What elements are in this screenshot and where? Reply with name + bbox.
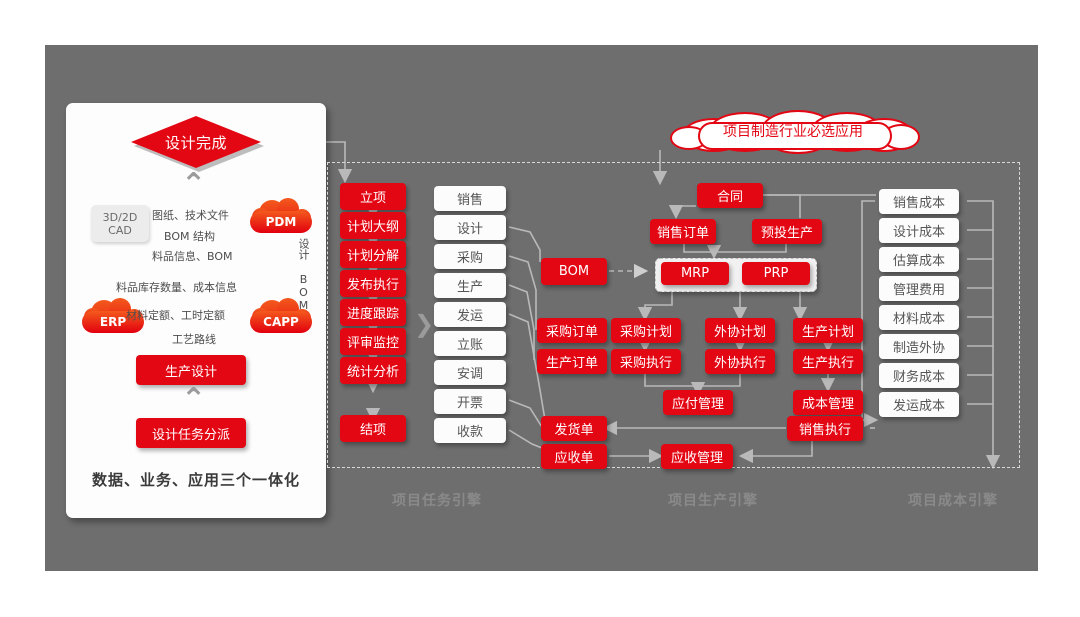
- production-plan-box[interactable]: 生产计划: [793, 318, 863, 343]
- chevron-up-icon-task: ⌃: [181, 385, 206, 415]
- task-step-lixiang[interactable]: 立项: [340, 183, 406, 210]
- label-design-bom: 设计 BOM: [297, 238, 309, 312]
- cad-box: 3D/2D CAD: [91, 205, 149, 242]
- design-task-assign-button[interactable]: 设计任务分派: [136, 418, 246, 448]
- task-step-jihuadagang[interactable]: 计划大纲: [340, 212, 406, 239]
- sales-exec-box[interactable]: 销售执行: [787, 416, 863, 441]
- task-step-jihuafenjie[interactable]: 计划分解: [340, 241, 406, 268]
- pdm-cloud: PDM: [250, 198, 312, 238]
- erp-cloud-label: ERP: [82, 311, 144, 333]
- engine-label-task: 项目任务引擎: [392, 490, 482, 510]
- label-material-info-bom: 料品信息、BOM: [152, 248, 233, 264]
- cad-line-1: 3D/2D: [103, 211, 138, 224]
- callout-text: 项目制造行业必选应用: [668, 110, 918, 152]
- bom-box[interactable]: BOM: [541, 258, 607, 285]
- task-step-jindugenzong[interactable]: 进度跟踪: [340, 299, 406, 326]
- task-step-jiexiang[interactable]: 结项: [340, 415, 406, 442]
- production-design-button[interactable]: 生产设计: [136, 355, 246, 385]
- task-lane-sheji[interactable]: 设计: [434, 215, 506, 240]
- task-step-fabuzhixing[interactable]: 发布执行: [340, 270, 406, 297]
- chevron-up-icon-design: ⌃: [181, 170, 206, 200]
- panel-caption: 数据、业务、应用三个一体化: [66, 469, 326, 490]
- purchase-exec-box[interactable]: 采购执行: [611, 349, 681, 374]
- payable-mgmt-box[interactable]: 应付管理: [663, 390, 733, 415]
- cost-item-guanli[interactable]: 管理费用: [879, 276, 959, 301]
- task-lane-xiaoshou[interactable]: 销售: [434, 186, 506, 211]
- task-lane-fayun[interactable]: 发运: [434, 302, 506, 327]
- callout-cloud: 项目制造行业必选应用: [668, 110, 918, 152]
- task-step-tongjifenxi[interactable]: 统计分析: [340, 357, 406, 384]
- pdm-cloud-label: PDM: [250, 211, 312, 233]
- outsource-plan-box[interactable]: 外协计划: [705, 318, 775, 343]
- label-drawings-tech-docs: 图纸、技术文件: [152, 207, 229, 223]
- cost-item-sheji[interactable]: 设计成本: [879, 218, 959, 243]
- capp-cloud-label: CAPP: [250, 311, 312, 333]
- receivable-mgmt-box[interactable]: 应收管理: [661, 444, 733, 469]
- label-process-route: 工艺路线: [172, 331, 216, 347]
- sales-order-box[interactable]: 销售订单: [650, 219, 716, 244]
- task-lane-shengchan[interactable]: 生产: [434, 273, 506, 298]
- delivery-note-box[interactable]: 发货单: [541, 416, 607, 441]
- task-step-pingshenjiankong[interactable]: 评审监控: [340, 328, 406, 355]
- prp-box[interactable]: PRP: [742, 262, 810, 285]
- label-stock-qty-cost-info: 料品库存数量、成本信息: [116, 279, 237, 295]
- cost-mgmt-box[interactable]: 成本管理: [793, 390, 863, 415]
- cost-item-xiaoshou[interactable]: 销售成本: [879, 189, 959, 214]
- pre-production-box[interactable]: 预投生产: [752, 219, 822, 244]
- task-lane-caigou[interactable]: 采购: [434, 244, 506, 269]
- task-lane-lizhang[interactable]: 立账: [434, 331, 506, 356]
- contract-box[interactable]: 合同: [697, 183, 763, 208]
- outsource-exec-box[interactable]: 外协执行: [705, 349, 775, 374]
- purchase-plan-box[interactable]: 采购计划: [611, 318, 681, 343]
- mrp-box[interactable]: MRP: [661, 262, 729, 285]
- cad-line-2: CAD: [108, 224, 132, 237]
- label-bom-structure: BOM 结构: [164, 228, 215, 244]
- cost-item-zhizao[interactable]: 制造外协: [879, 334, 959, 359]
- receivable-note-box[interactable]: 应收单: [541, 444, 607, 469]
- cost-item-cailiao[interactable]: 材料成本: [879, 305, 959, 330]
- task-lane-antiao[interactable]: 安调: [434, 360, 506, 385]
- cost-item-fayun[interactable]: 发运成本: [879, 392, 959, 417]
- purchase-order-box[interactable]: 采购订单: [537, 318, 607, 343]
- chevron-right-icon-columns: ❯: [414, 310, 434, 338]
- cost-item-gusuan[interactable]: 估算成本: [879, 247, 959, 272]
- task-lane-kaipiao[interactable]: 开票: [434, 389, 506, 414]
- production-exec-box[interactable]: 生产执行: [793, 349, 863, 374]
- erp-cloud: ERP: [82, 298, 144, 338]
- cost-item-caiwu[interactable]: 财务成本: [879, 363, 959, 388]
- production-order-box[interactable]: 生产订单: [537, 349, 607, 374]
- diagram-canvas: 设计完成 ⌃ 3D/2D CAD PDM ERP CAPP 图纸、技术文件 BO…: [0, 0, 1080, 617]
- engine-label-cost: 项目成本引擎: [908, 490, 998, 510]
- task-lane-shoukuan[interactable]: 收款: [434, 418, 506, 443]
- engine-label-production: 项目生产引擎: [668, 490, 758, 510]
